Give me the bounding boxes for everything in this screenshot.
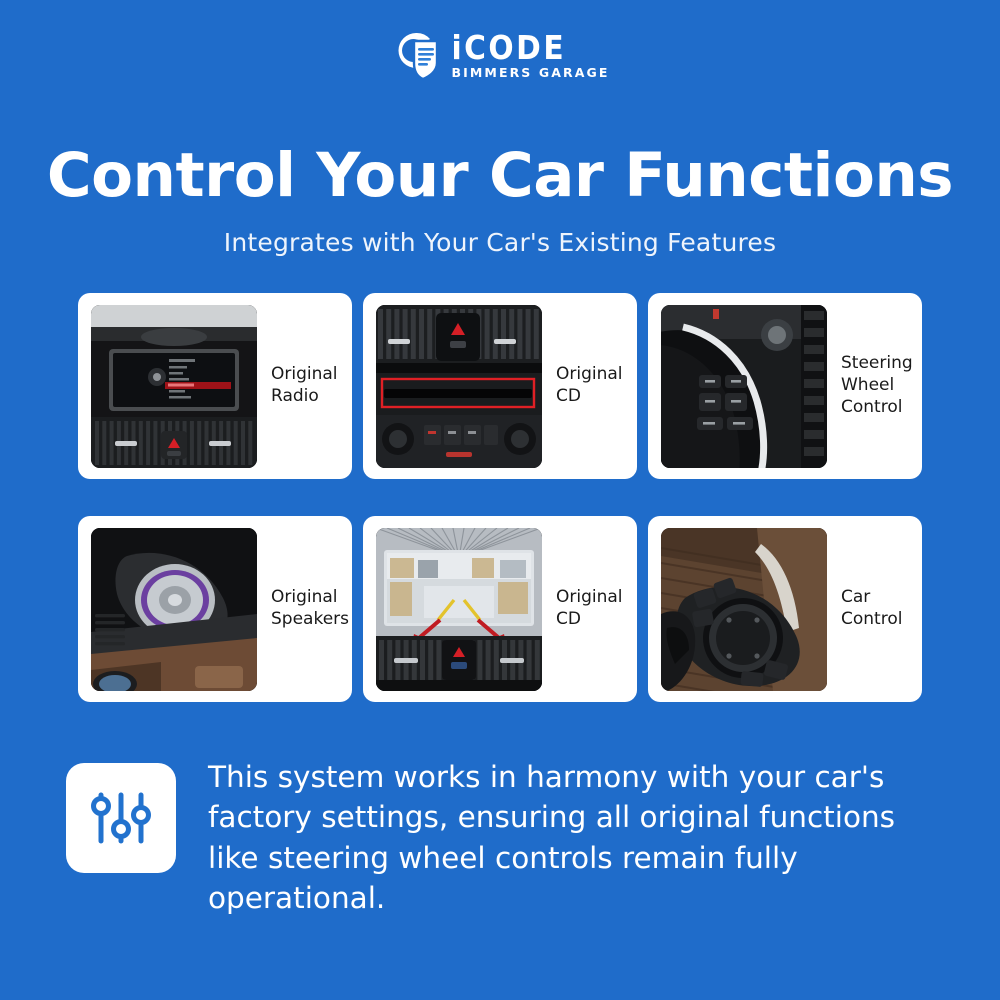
feature-card-label: CarControl [841,587,902,631]
feature-card-label: OriginalSpeakers [271,587,349,631]
feature-card[interactable]: OriginalRadio [78,293,352,479]
brand-tagline: BIMMERS GARAGE [451,67,609,80]
sliders-settings-icon [66,763,176,873]
footer-note: This system works in harmony with your c… [66,755,946,919]
feature-card-label: OriginalCD [556,587,623,631]
feature-card-label: OriginalCD [556,364,623,408]
feature-card[interactable]: OriginalSpeakers [78,516,352,702]
heading-block: Control Your Car Functions Integrates wi… [0,144,1000,257]
footer-text: This system works in harmony with your c… [208,755,908,919]
icode-shield-g-logo-icon [390,27,440,81]
steering-wheel-buttons-photo [661,305,827,468]
car-head-unit-display-photo [91,305,257,468]
idrive-controller-knob-photo [661,528,827,691]
page-subtitle: Integrates with Your Car's Existing Feat… [0,228,1000,257]
car-cd-slot-climate-panel-photo [376,305,542,468]
logo: iCODE BIMMERS GARAGE [390,27,609,81]
feature-card[interactable]: CarControl [648,516,922,702]
feature-card-grid: OriginalRadio [78,293,922,702]
reverse-camera-screen-photo [376,528,542,691]
brand-name: iCODE [451,31,609,64]
feature-card-label: OriginalRadio [271,364,338,408]
feature-card[interactable]: SteeringWheelControl [648,293,922,479]
feature-card[interactable]: OriginalCD [363,293,637,479]
brand-header: iCODE BIMMERS GARAGE [0,0,1000,108]
page-title: Control Your Car Functions [0,144,1000,208]
feature-card-label: SteeringWheelControl [841,353,913,418]
tweeter-speaker-photo [91,528,257,691]
feature-card[interactable]: OriginalCD [363,516,637,702]
